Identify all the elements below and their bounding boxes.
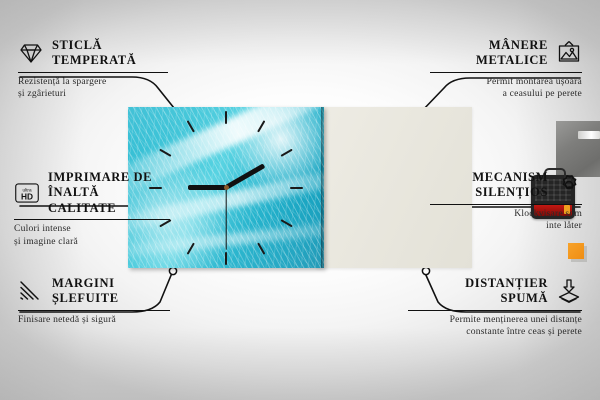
polished-edge-icon [18,278,44,304]
clock-minute-hand [188,185,226,190]
feature-subtitle-line1: Permite menținerea unei distanțe [450,314,582,325]
feature-subtitle-line2: a ceasului pe perete [503,88,582,99]
feature-title-line2: SILENȚIOS [475,185,548,199]
divider [430,72,582,73]
feature-silent-mechanism: MECANISM SILENȚIOS Klockvisare som inte … [430,170,582,233]
feature-title-line1: STICLĂ [52,38,102,52]
clock-edge-shadow [321,107,324,268]
product-photo-composite [128,107,472,268]
feature-subtitle-line2: inte låter [546,220,582,231]
feature-hd-printing: ultra HD IMPRIMARE DE ÎNALTĂ CALITATE Cu… [14,170,170,248]
divider [18,310,170,311]
feature-subtitle-line1: Rezistență la spargere [18,76,106,87]
feature-subtitle-line1: Permit montarea ușoară [486,76,582,87]
feature-title-line2: ÎNALTĂ CALITATE [48,185,116,214]
clock-center-cap [224,185,229,190]
gear-icon [556,172,582,198]
clock-tick [225,111,227,124]
feature-title-line1: MÂNERE [489,38,548,52]
ultra-hd-icon: ultra HD [14,180,40,206]
diamond-icon [18,40,44,66]
clock-second-hand [225,187,226,249]
feature-metal-handles: MÂNERE METALICE Permit montarea ușoară a… [430,38,582,101]
feature-title-line1: MARGINI [52,276,115,290]
feature-title-line2: ȘLEFUITE [52,291,119,305]
picture-frame-icon [556,40,582,66]
feature-subtitle-line1: Culori intense [14,223,71,234]
clock-tick [290,187,303,189]
feature-title-line1: MECANISM [472,170,548,184]
divider [408,310,582,311]
endpoint-dot-foam-spacer [422,267,429,274]
feature-title-line1: DISTANȚIER [465,276,548,290]
arrow-down-stack-icon [556,278,582,304]
feature-tempered-glass: STICLĂ TEMPERATĂ Rezistență la spargere … [18,38,168,101]
feature-title-line2: METALICE [476,53,548,67]
feature-subtitle-line2: constante între ceas și perete [466,326,582,337]
clock-tick [225,252,227,265]
foam-spacer-photo [568,243,584,259]
svg-text:HD: HD [21,191,33,201]
divider [430,204,582,205]
feature-title-line1: IMPRIMARE DE [48,170,152,184]
feature-foam-spacer: DISTANȚIER SPUMĂ Permite menținerea unei… [408,276,582,339]
feature-polished-edges: MARGINI ȘLEFUITE Finisare netedă și sigu… [18,276,170,326]
infographic-canvas: STICLĂ TEMPERATĂ Rezistență la spargere … [0,0,600,400]
feature-subtitle-line2: și zgârieturi [18,88,66,99]
feature-title-line2: SPUMĂ [501,291,548,305]
endpoint-dot-polished-edges [169,267,176,274]
feature-subtitle-line2: și imagine clară [14,236,78,247]
feature-subtitle-line1: Finisare netedă și sigură [18,314,116,325]
divider [18,72,168,73]
feature-subtitle-line1: Klockvisare som [514,208,582,219]
feature-title-line2: TEMPERATĂ [52,53,136,67]
divider [14,219,170,220]
